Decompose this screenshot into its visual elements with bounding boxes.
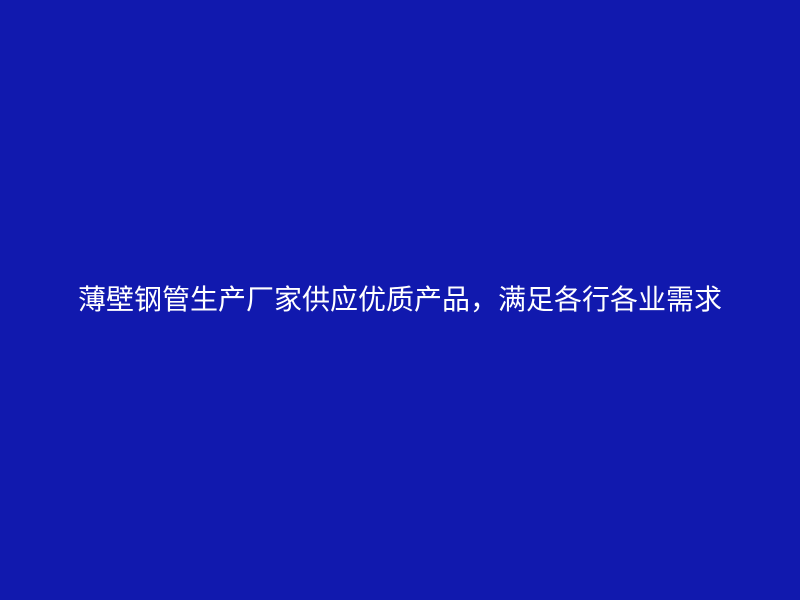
headline-block: 薄壁钢管生产厂家供应优质产品，满足各行各业需求 <box>50 0 750 600</box>
banner-canvas: 薄壁钢管生产厂家供应优质产品，满足各行各业需求 <box>0 0 800 600</box>
page-title: 薄壁钢管生产厂家供应优质产品，满足各行各业需求 <box>50 276 750 324</box>
